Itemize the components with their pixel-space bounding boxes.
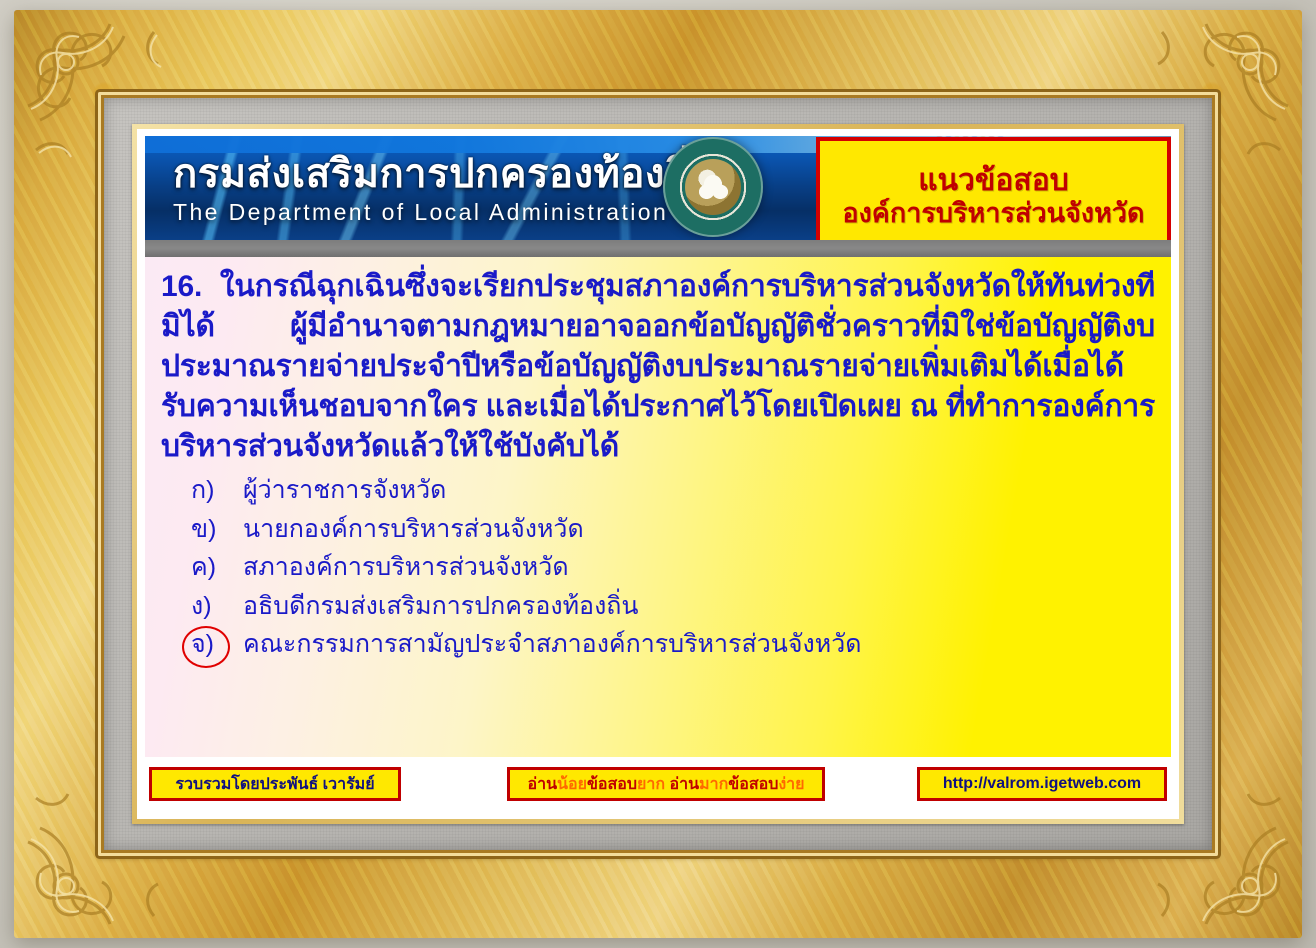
choice-item-c[interactable]: ค) สภาองค์การบริหารส่วนจังหวัด [185,553,1157,583]
footer-slogan-text: อ่านน้อยข้อสอบยาก อ่านมากข้อสอบง่าย [527,772,804,797]
choice-label: คณะกรรมการสามัญประจำสภาองค์การบริหารส่วน… [243,630,1157,660]
slogan-segment: มาก [699,776,728,793]
footer-url-box[interactable]: http://valrom.igetweb.com [917,767,1167,801]
footer-credit-box: รวบรวมโดยประพันธ์ เวารัมย์ [149,767,401,801]
exam-badge-line2: องค์การบริหารส่วนจังหวัด [842,199,1144,229]
banner-title-group: กรมส่งเสริมการปกครองท้องถิ่น The Departm… [173,154,718,227]
choice-item-d[interactable]: ง) อธิบดีกรมส่งเสริมการปกครองท้องถิ่น [185,592,1157,622]
choice-item-b[interactable]: ข) นายกองค์การบริหารส่วนจังหวัด [185,515,1157,545]
slide-artwork: กรมส่งเสริมการปกครองท้องถิ่น The Departm… [137,129,1179,819]
choice-label: สภาองค์การบริหารส่วนจังหวัด [243,553,1157,583]
slogan-segment: อ่าน [527,776,557,793]
picture-frame: กรมส่งเสริมการปกครองท้องถิ่น The Departm… [14,10,1302,938]
slogan-segment: น้อย [557,776,587,793]
choice-key: ก) [185,476,243,506]
question-text: 16. ในกรณีฉุกเฉินซึ่งจะเรียกประชุมสภาองค… [161,267,1155,466]
slogan-segment: ง่าย [778,776,804,793]
slide-footer: รวบรวมโดยประพันธ์ เวารัมย์ อ่านน้อยข้อสอ… [145,757,1171,811]
slogan-segment: อ่าน [665,776,699,793]
banner-title-thai: กรมส่งเสริมการปกครองท้องถิ่น [173,154,718,194]
slogan-segment: ข้อสอบ [728,776,778,793]
slogan-segment: ยาก [637,776,665,793]
exam-topic-badge: แนวข้อสอบ องค์การบริหารส่วนจังหวัด [816,137,1171,240]
seal-emblem-icon [685,159,741,215]
department-seal-icon [663,137,763,237]
choice-key: ค) [185,553,243,583]
choice-item-e[interactable]: จ) คณะกรรมการสามัญประจำสภาองค์การบริหารส… [185,630,1157,660]
choice-label: ผู้ว่าราชการจังหวัด [243,476,1157,506]
footer-credit-text: รวบรวมโดยประพันธ์ เวารัมย์ [175,772,374,797]
footer-url-text: http://valrom.igetweb.com [943,775,1141,793]
banner-separator [145,240,1171,257]
header-banner: กรมส่งเสริมการปกครองท้องถิ่น The Departm… [145,136,1171,240]
banner-title-english: The Department of Local Administration [173,198,718,227]
slogan-segment: ข้อสอบ [587,776,637,793]
exam-badge-line1: แนวข้อสอบ [918,164,1069,197]
choice-label: นายกองค์การบริหารส่วนจังหวัด [243,515,1157,545]
frame-mat: กรมส่งเสริมการปกครองท้องถิ่น The Departm… [104,98,1212,850]
choices-list: ก) ผู้ว่าราชการจังหวัด ข) นายกองค์การบริ… [185,476,1157,669]
question-body: 16. ในกรณีฉุกเฉินซึ่งจะเรียกประชุมสภาองค… [145,257,1171,757]
footer-slogan-box: อ่านน้อยข้อสอบยาก อ่านมากข้อสอบง่าย [507,767,825,801]
choice-key: ข) [185,515,243,545]
choice-label: อธิบดีกรมส่งเสริมการปกครองท้องถิ่น [243,592,1157,622]
choice-key-circled: จ) [185,630,243,660]
choice-key: ง) [185,592,243,622]
frame-fillet: กรมส่งเสริมการปกครองท้องถิ่น The Departm… [132,124,1184,824]
choice-item-a[interactable]: ก) ผู้ว่าราชการจังหวัด [185,476,1157,506]
